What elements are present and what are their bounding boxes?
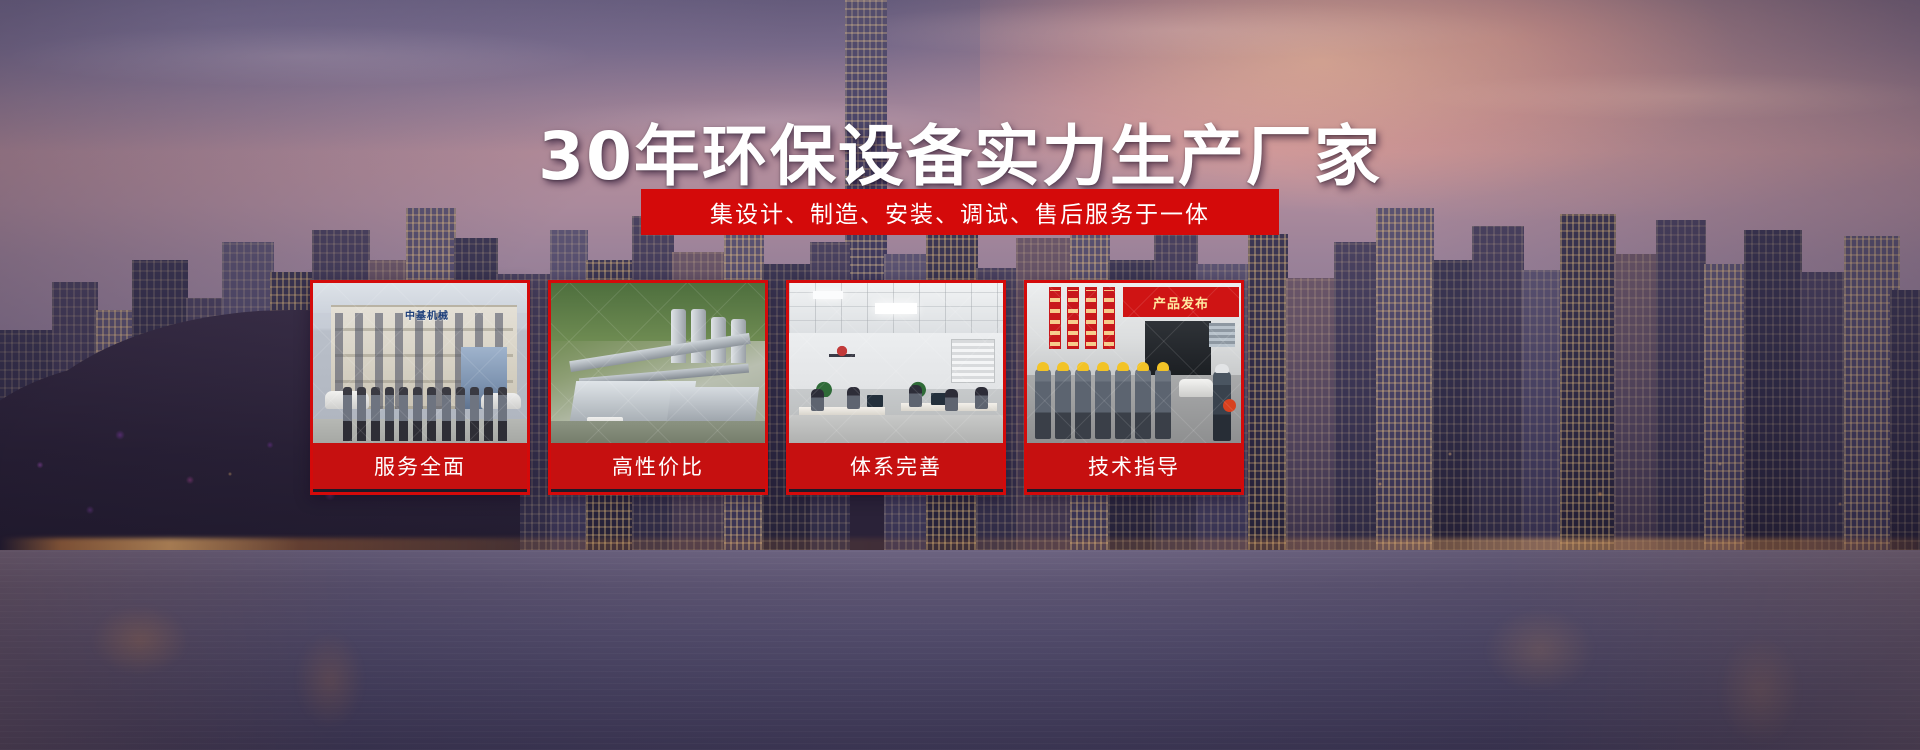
vertical-banner xyxy=(1085,287,1097,349)
feature-card[interactable]: 中基机械 服务全面 xyxy=(310,280,530,495)
office-worker xyxy=(847,387,860,409)
monitor xyxy=(867,395,883,407)
feature-card[interactable]: 体系完善 xyxy=(786,280,1006,495)
office-worker xyxy=(945,389,958,411)
feature-card-list: 中基机械 服务全面 xyxy=(310,280,1610,495)
hero-banner: 30年环保设备实力生产厂家 集设计、制造、安装、调试、售后服务于一体 中基机械 xyxy=(0,0,1920,750)
banner-subtitle-bar: 集设计、制造、安装、调试、售后服务于一体 xyxy=(641,189,1279,235)
factory-window xyxy=(1209,323,1235,347)
ceiling-light xyxy=(813,291,843,299)
photo-ground xyxy=(551,421,765,443)
photo-scene: 中基机械 xyxy=(313,283,527,443)
held-helmet xyxy=(1223,399,1236,412)
ceiling-light xyxy=(875,303,917,314)
photo-ground xyxy=(789,415,1003,443)
feature-card-label-text: 服务全面 xyxy=(374,451,466,481)
vertical-banner xyxy=(1103,287,1115,349)
office-worker xyxy=(909,385,922,407)
factory-door xyxy=(1145,321,1211,375)
feature-card-label-text: 技术指导 xyxy=(1088,451,1180,481)
parked-van xyxy=(1179,379,1213,397)
window-blinds xyxy=(951,339,995,383)
feature-card[interactable]: 产品发布 技术指导 xyxy=(1024,280,1244,495)
photo-scene xyxy=(789,283,1003,443)
vertical-banner xyxy=(1067,287,1079,349)
plant-shed xyxy=(667,387,759,421)
office-building-staff-photo: 中基机械 xyxy=(313,283,527,443)
vertical-banner xyxy=(1049,287,1061,349)
feature-card-label: 服务全面 xyxy=(313,443,527,489)
banner-content: 30年环保设备实力生产厂家 集设计、制造、安装、调试、售后服务于一体 中基机械 xyxy=(0,0,1920,750)
wall-logo xyxy=(829,343,855,363)
photo-scene xyxy=(551,283,765,443)
worker-lineup xyxy=(1035,369,1175,443)
office-worker xyxy=(975,387,988,409)
feature-card-label: 技术指导 xyxy=(1027,443,1241,489)
office-worker xyxy=(811,389,824,411)
aerial-industrial-plant-photo xyxy=(551,283,765,443)
feature-card-label-text: 高性价比 xyxy=(612,451,704,481)
feature-card[interactable]: 高性价比 xyxy=(548,280,768,495)
feature-card-label: 高性价比 xyxy=(551,443,765,489)
feature-card-label: 体系完善 xyxy=(789,443,1003,489)
staff-lineup xyxy=(343,387,507,443)
building-sign-text: 中基机械 xyxy=(387,308,467,321)
photo-scene: 产品发布 xyxy=(1027,283,1241,443)
banner-headline: 30年环保设备实力生产厂家 xyxy=(0,103,1920,199)
silo xyxy=(691,309,706,363)
banner-subtitle-text: 集设计、制造、安装、调试、售后服务于一体 xyxy=(710,195,1210,229)
feature-card-label-text: 体系完善 xyxy=(850,451,942,481)
factory-workers-photo: 产品发布 xyxy=(1027,283,1241,443)
open-plan-office-photo xyxy=(789,283,1003,443)
factory-banner-text: 产品发布 xyxy=(1123,287,1239,317)
